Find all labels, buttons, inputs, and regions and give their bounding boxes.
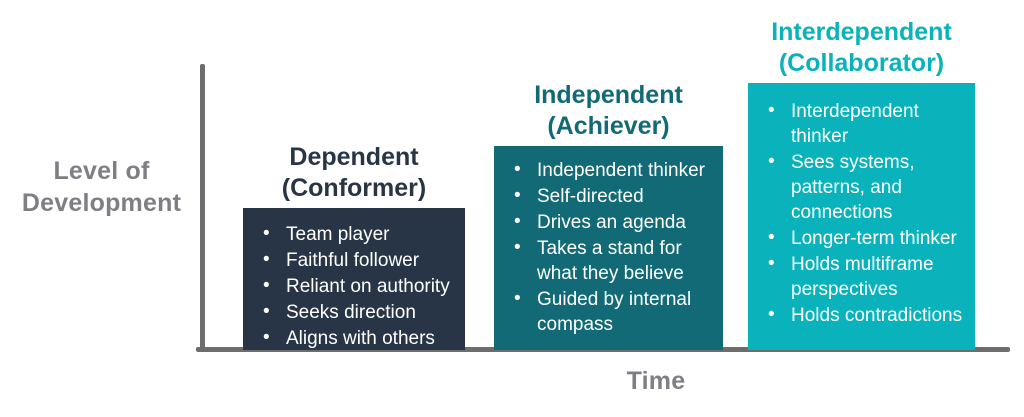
y-axis-line xyxy=(200,64,205,352)
list-item: Team player xyxy=(255,222,455,247)
development-stages-diagram: Level of Development Time Dependent (Con… xyxy=(0,0,1024,417)
list-item: Drives an agenda xyxy=(506,210,713,235)
bullet-list-dependent: Team player Faithful follower Reliant on… xyxy=(255,222,455,351)
stage-title-dependent: Dependent (Conformer) xyxy=(204,142,504,208)
y-axis-label: Level of Development xyxy=(14,155,189,219)
list-item: Seeks direction xyxy=(255,300,455,325)
stage-title-independent: Independent (Achiever) xyxy=(459,80,759,146)
list-item: Longer-term thinker xyxy=(760,226,965,251)
stage-box-independent: Independent thinker Self-directed Drives… xyxy=(494,146,723,350)
list-item: Takes a stand for what they believe xyxy=(506,236,713,286)
list-item: Faithful follower xyxy=(255,248,455,273)
list-item: Interdependent thinker xyxy=(760,99,965,149)
list-item: Aligns with others xyxy=(255,326,455,351)
list-item: Sees systems, patterns, and connections xyxy=(760,150,965,225)
list-item: Holds contradictions xyxy=(760,303,965,328)
stage-box-dependent: Team player Faithful follower Reliant on… xyxy=(243,208,465,350)
bullet-list-independent: Independent thinker Self-directed Drives… xyxy=(506,158,713,337)
list-item: Guided by internal compass xyxy=(506,287,713,337)
list-item: Holds multiframe perspectives xyxy=(760,252,965,302)
bullet-list-interdependent: Interdependent thinker Sees systems, pat… xyxy=(760,99,965,328)
list-item: Independent thinker xyxy=(506,158,713,183)
stage-box-interdependent: Interdependent thinker Sees systems, pat… xyxy=(748,83,975,350)
stage-title-interdependent: Interdependent (Collaborator) xyxy=(712,17,1012,83)
list-item: Self-directed xyxy=(506,184,713,209)
stage-independent: Independent (Achiever) Independent think… xyxy=(494,146,723,350)
stage-interdependent: Interdependent (Collaborator) Interdepen… xyxy=(748,83,975,350)
x-axis-label: Time xyxy=(556,366,756,396)
list-item: Reliant on authority xyxy=(255,274,455,299)
stage-dependent: Dependent (Conformer) Team player Faithf… xyxy=(243,208,465,350)
